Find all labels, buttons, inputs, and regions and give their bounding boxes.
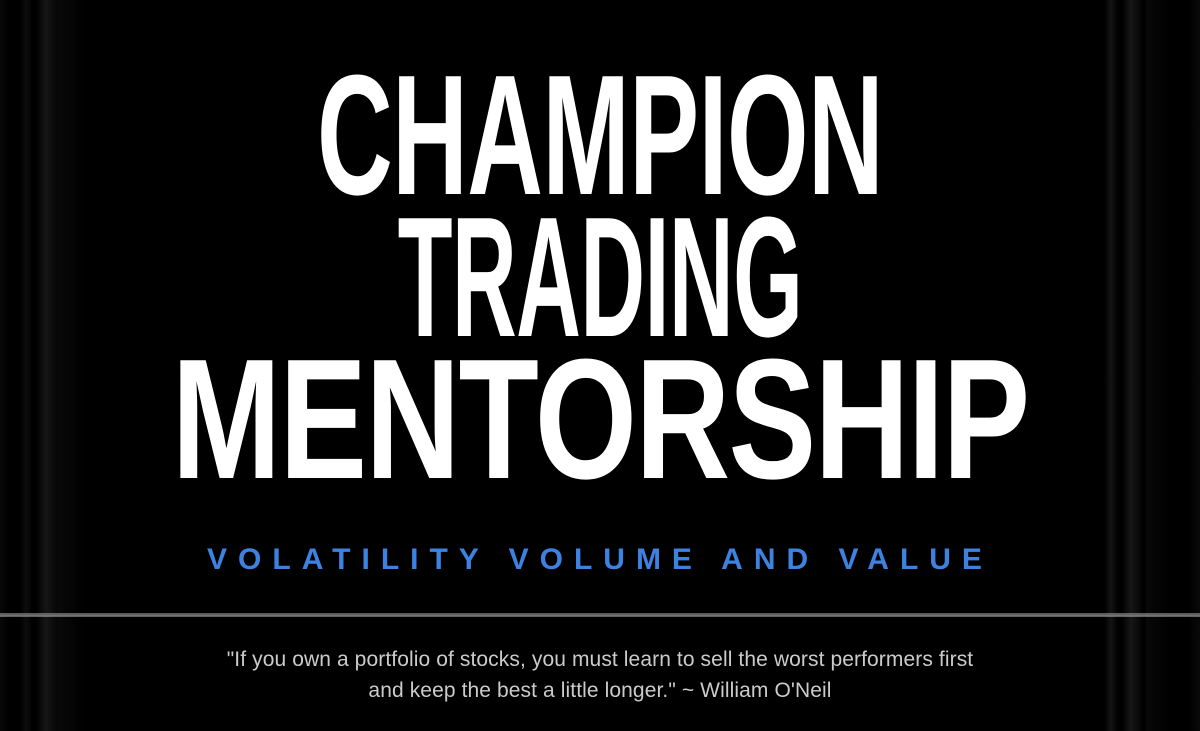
page-title-line-3: MENTORSHIP (74, 340, 1126, 497)
quote-line-1: "If you own a portfolio of stocks, you m… (0, 644, 1200, 675)
subtitle-tagline: VOLATILITY VOLUME AND VALUE (0, 543, 1200, 577)
quote-block: "If you own a portfolio of stocks, you m… (0, 644, 1200, 706)
horizontal-divider (0, 613, 1200, 617)
quote-line-2: and keep the best a little longer." ~ Wi… (0, 675, 1200, 706)
hero-title-block: CHAMPION TRADING MENTORSHIP (0, 0, 1200, 478)
poster-root: CHAMPION TRADING MENTORSHIP VOLATILITY V… (0, 0, 1200, 731)
